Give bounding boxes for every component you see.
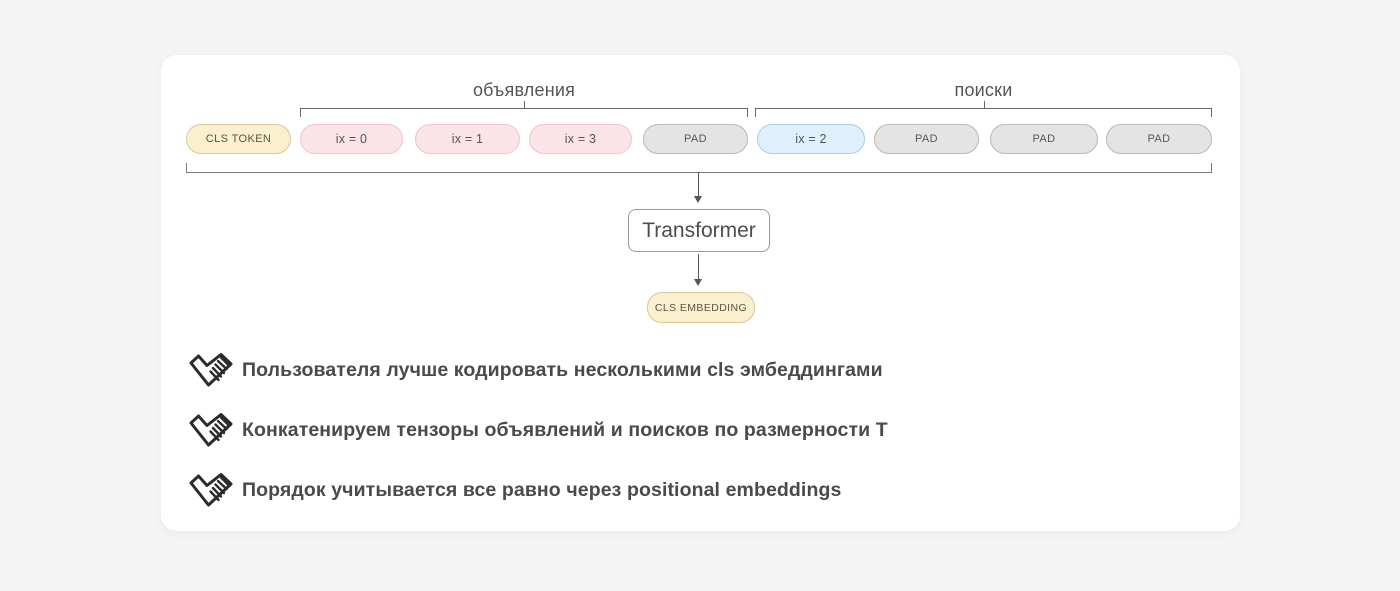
arrow-tokens-to-transformer: [698, 172, 699, 202]
check-mark-icon: [188, 412, 234, 448]
group-label-queries: поиски: [755, 80, 1212, 101]
bullet-item: Пользователя лучше кодировать нескольким…: [188, 352, 883, 388]
token-pill-label: PAD: [1032, 133, 1055, 145]
bullet-text: Порядок учитывается все равно через posi…: [242, 479, 841, 502]
token-pill-label: PAD: [915, 133, 938, 145]
arrow-transformer-to-output: [698, 254, 699, 285]
token-pill[interactable]: PAD: [643, 124, 748, 154]
bullet-item: Конкатенируем тензоры объявлений и поиск…: [188, 412, 888, 448]
bracket-ads: [300, 108, 748, 117]
bullet-text: Пользователя лучше кодировать нескольким…: [242, 359, 883, 382]
bullet-item: Порядок учитывается все равно через posi…: [188, 472, 841, 508]
bracket-nub: [524, 101, 525, 109]
token-pill[interactable]: ix = 2: [757, 124, 865, 154]
token-pill[interactable]: PAD: [990, 124, 1098, 154]
bracket-nub: [984, 101, 985, 109]
token-pill-label: PAD: [1147, 133, 1170, 145]
token-pill-label: ix = 2: [795, 132, 826, 146]
transformer-label: Transformer: [642, 219, 756, 243]
token-pill[interactable]: CLS TOKEN: [186, 124, 291, 154]
cls-embedding-label: CLS EMBEDDING: [655, 302, 747, 314]
check-mark-icon: [188, 472, 234, 508]
token-pill[interactable]: ix = 1: [415, 124, 520, 154]
bracket-queries: [755, 108, 1212, 117]
token-pill-label: ix = 0: [336, 132, 367, 146]
token-pill[interactable]: ix = 3: [529, 124, 632, 154]
group-label-ads: объявления: [300, 80, 748, 101]
token-pill[interactable]: PAD: [874, 124, 979, 154]
bullet-text: Конкатенируем тензоры объявлений и поиск…: [242, 419, 888, 442]
transformer-block: Transformer: [628, 209, 770, 252]
token-pill-label: ix = 1: [452, 132, 483, 146]
bracket-all-tokens: [186, 163, 1212, 173]
slide-root: объявления поиски CLS TOKENix = 0ix = 1i…: [0, 0, 1400, 591]
token-pill[interactable]: ix = 0: [300, 124, 403, 154]
token-pill-label: PAD: [684, 133, 707, 145]
token-pill[interactable]: PAD: [1106, 124, 1212, 154]
check-mark-icon: [188, 352, 234, 388]
token-pill-label: CLS TOKEN: [206, 133, 272, 145]
token-pill-label: ix = 3: [565, 132, 596, 146]
cls-embedding-pill: CLS EMBEDDING: [647, 292, 755, 323]
